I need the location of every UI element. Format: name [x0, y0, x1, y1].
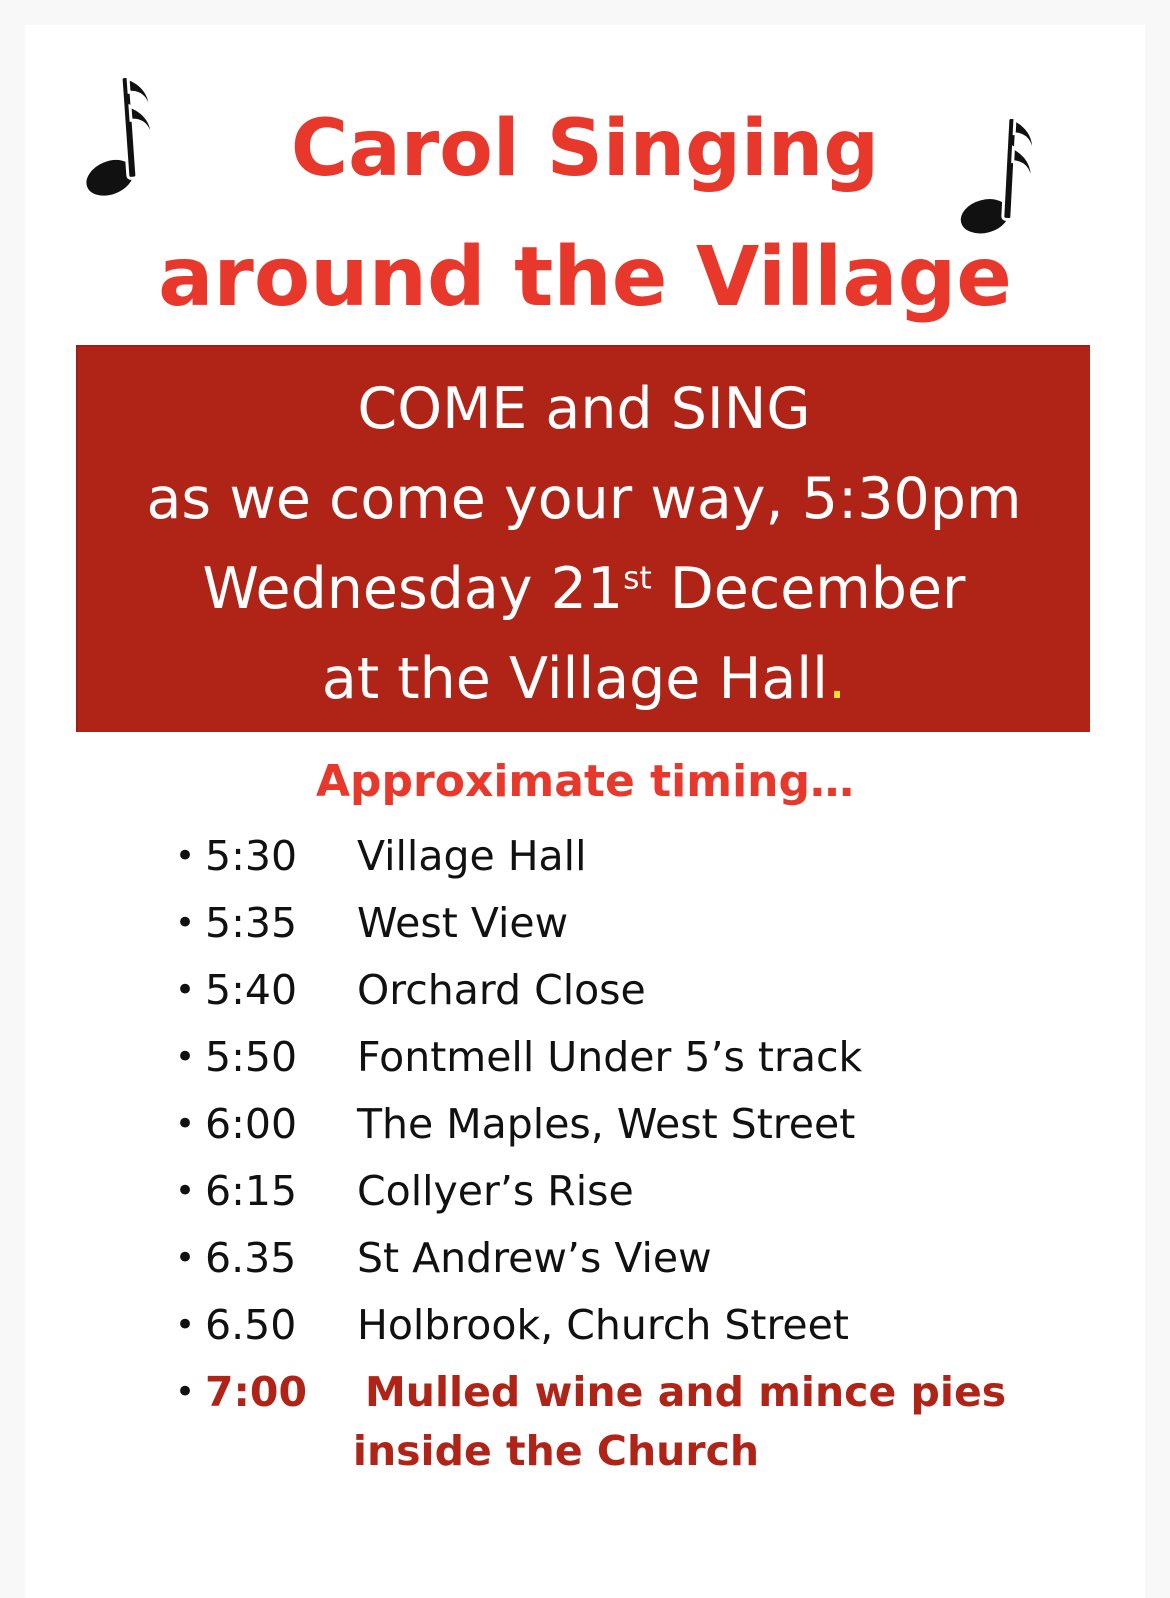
- list-bullet: •: [175, 957, 201, 1024]
- list-item: • 6.50 Holbrook, Church Street: [175, 1292, 1135, 1359]
- list-bullet: •: [175, 1024, 201, 1091]
- list-item-place: The Maples, West Street: [357, 1091, 855, 1158]
- list-item-place: Orchard Close: [357, 957, 646, 1024]
- list-item: • 5:50 Fontmell Under 5’s track: [175, 1024, 1135, 1091]
- list-item: • 6:00 The Maples, West Street: [175, 1091, 1135, 1158]
- list-item-time: 6.35: [205, 1225, 335, 1292]
- announcement-banner-text: COME and SING as we come your way, 5:30p…: [78, 364, 1090, 724]
- banner-yellow-period: .: [828, 646, 846, 712]
- list-item-time: 6.50: [205, 1292, 335, 1359]
- list-item-time: 6:00: [205, 1091, 335, 1158]
- list-item-place: Village Hall: [357, 823, 586, 890]
- list-bullet: •: [175, 1158, 201, 1225]
- list-item-place: St Andrew’s View: [357, 1225, 712, 1292]
- page-title-line-1: Carol Singing: [25, 110, 1145, 188]
- list-item-place: West View: [357, 890, 568, 957]
- list-item: • 6:15 Collyer’s Rise: [175, 1158, 1135, 1225]
- banner-line-3: Wednesday 21st December: [78, 544, 1090, 634]
- banner-line-1: COME and SING: [78, 364, 1090, 454]
- list-bullet: •: [175, 1225, 201, 1292]
- list-item-time: 7:00: [205, 1359, 335, 1426]
- list-bullet: •: [175, 890, 201, 957]
- final-line: inside the Church: [25, 1431, 1145, 1472]
- list-bullet: •: [175, 1359, 201, 1426]
- list-item-place: Holbrook, Church Street: [357, 1292, 849, 1359]
- list-item-highlight: • 7:00 Mulled wine and mince pies: [175, 1359, 1135, 1426]
- banner-date-post: December: [652, 556, 966, 622]
- list-item-time: 5:30: [205, 823, 335, 890]
- list-item-time: 6:15: [205, 1158, 335, 1225]
- list-item: • 6.35 St Andrew’s View: [175, 1225, 1135, 1292]
- schedule-list: • 5:30 Village Hall • 5:35 West View • 5…: [175, 823, 1135, 1426]
- list-item-time: 5:35: [205, 890, 335, 957]
- banner-date-pre: Wednesday 21: [203, 556, 624, 622]
- banner-line-4: at the Village Hall.: [78, 634, 1090, 724]
- list-bullet: •: [175, 823, 201, 890]
- list-item: • 5:40 Orchard Close: [175, 957, 1135, 1024]
- timing-heading: Approximate timing…: [25, 760, 1145, 804]
- banner-venue: at the Village Hall: [322, 646, 828, 712]
- poster-sheet: Carol Singing around the Village COME an…: [25, 25, 1145, 1598]
- announcement-banner: COME and SING as we come your way, 5:30p…: [76, 345, 1090, 732]
- list-item-time: 5:50: [205, 1024, 335, 1091]
- banner-date-ordinal: st: [623, 561, 652, 597]
- list-item-place: Mulled wine and mince pies: [365, 1359, 1006, 1426]
- list-item: • 5:35 West View: [175, 890, 1135, 957]
- banner-line-2: as we come your way, 5:30pm: [78, 454, 1090, 544]
- list-bullet: •: [175, 1292, 201, 1359]
- list-bullet: •: [175, 1091, 201, 1158]
- list-item: • 5:30 Village Hall: [175, 823, 1135, 890]
- list-item-place: Fontmell Under 5’s track: [357, 1024, 862, 1091]
- list-item-place: Collyer’s Rise: [357, 1158, 634, 1225]
- page-title-line-2: around the Village: [25, 237, 1145, 319]
- list-item-time: 5:40: [205, 957, 335, 1024]
